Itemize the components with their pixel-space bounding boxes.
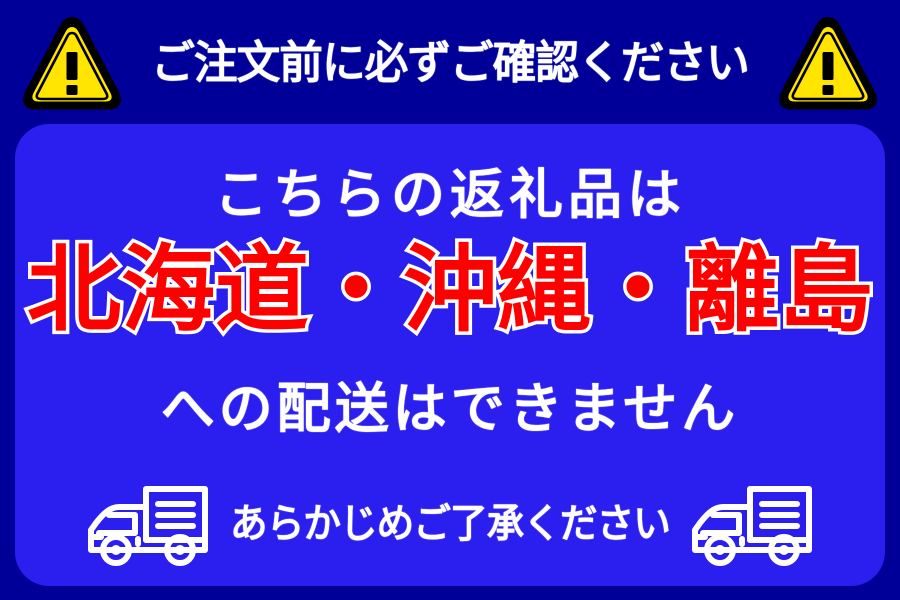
delivery-truck-icon xyxy=(83,482,213,566)
notice-line-no-delivery: への配送はできません xyxy=(15,382,885,436)
notice-line-intro: こちらの返礼品は xyxy=(15,168,885,222)
header-bar: ご注文前に必ずご確認ください xyxy=(0,0,900,124)
header-title: ご注文前に必ずご確認ください xyxy=(151,40,749,85)
notice-line-acknowledge: あらかじめご了承ください xyxy=(230,504,670,544)
delivery-truck-icon xyxy=(687,482,817,566)
warning-triangle-icon xyxy=(776,12,880,112)
notice-bottom-row: あらかじめご了承ください xyxy=(15,474,885,574)
notice-panel: こちらの返礼品は 北海道・沖縄・離島 への配送はできません xyxy=(15,124,885,586)
warning-triangle-icon xyxy=(20,12,124,112)
notice-line-regions: 北海道・沖縄・離島 xyxy=(15,244,885,338)
shipping-restriction-notice: ご注文前に必ずご確認ください こちらの返礼品は 北海道・沖縄・離島 への配送はで… xyxy=(0,0,900,600)
